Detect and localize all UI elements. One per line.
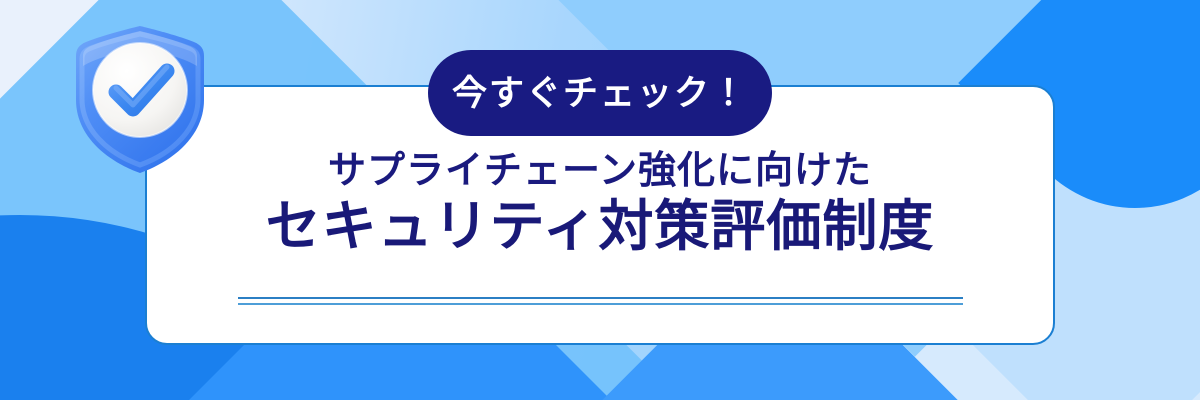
headline-line-2: セキュリティ対策評価制度 bbox=[145, 195, 1055, 258]
badge-label: 今すぐチェック！ bbox=[452, 76, 748, 111]
rule-line-bottom bbox=[238, 303, 963, 305]
headline-double-rule bbox=[238, 297, 963, 305]
promo-banner: 盾とチェックマーク bbox=[0, 0, 1200, 400]
headline-block: サプライチェーン強化に向けた セキュリティ対策評価制度 bbox=[145, 150, 1055, 259]
headline-line-1: サプライチェーン強化に向けた bbox=[145, 150, 1055, 193]
rule-line-top bbox=[238, 297, 963, 299]
check-now-badge: 今すぐチェック！ bbox=[428, 50, 772, 136]
